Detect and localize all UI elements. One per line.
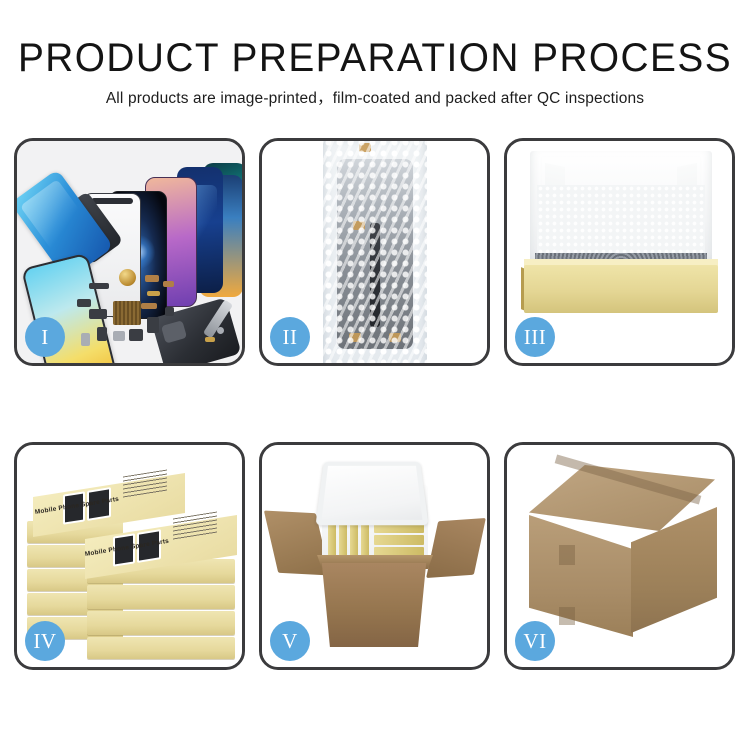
part-sim-tray (147, 317, 159, 333)
part-connector (89, 283, 109, 289)
carton-body (316, 563, 432, 647)
speaker-module-icon (119, 269, 136, 286)
stacked-box-edge (87, 585, 235, 609)
process-panel-3: III (504, 138, 735, 366)
stacked-box-edge (87, 637, 235, 659)
carton-handle-tab-upper (559, 545, 575, 565)
part-ic (165, 307, 174, 316)
process-grid: I II (14, 138, 736, 670)
part-ribbon (141, 303, 157, 309)
page-subtitle: All products are image-printed，film-coat… (0, 89, 750, 109)
panel-badge-4: IV (25, 621, 65, 661)
process-panel-6: VI (504, 442, 735, 670)
part-screw (217, 327, 224, 334)
panel-badge-1: I (25, 317, 65, 357)
process-panel-4: Mobile Phone Spare Parts Mobile Phone Sp… (14, 442, 245, 670)
header: PRODUCT PREPARATION PROCESS All products… (0, 0, 750, 109)
part-flex-copper-2 (163, 281, 174, 287)
panel-badge-2: II (270, 317, 310, 357)
stacked-box-edge (87, 611, 235, 635)
process-panel-5: V (259, 442, 490, 670)
panel-badge-5: V (270, 621, 310, 661)
process-panel-1: I (14, 138, 245, 366)
part-antenna (77, 299, 91, 307)
yellow-box-slab (374, 535, 424, 545)
part-button-flex (97, 327, 107, 341)
part-small-bracket (81, 333, 90, 346)
foam-texture (537, 185, 705, 263)
foam-lid (316, 462, 429, 525)
part-vibrator (129, 329, 143, 341)
part-chip-array (113, 301, 141, 325)
part-camera-module (89, 309, 107, 319)
carton-handle-tab-lower (559, 607, 575, 625)
part-flex-copper (145, 275, 159, 282)
page-title: PRODUCT PREPARATION PROCESS (11, 36, 739, 80)
part-screw-set (205, 337, 215, 342)
part-gold-contact (147, 291, 160, 296)
yellow-box-body (524, 265, 718, 313)
panel-badge-6: VI (515, 621, 555, 661)
part-bracket (113, 331, 125, 341)
bubble-texture-overlay (323, 141, 427, 363)
process-panel-2: II (259, 138, 490, 366)
panel-badge-3: III (515, 317, 555, 357)
